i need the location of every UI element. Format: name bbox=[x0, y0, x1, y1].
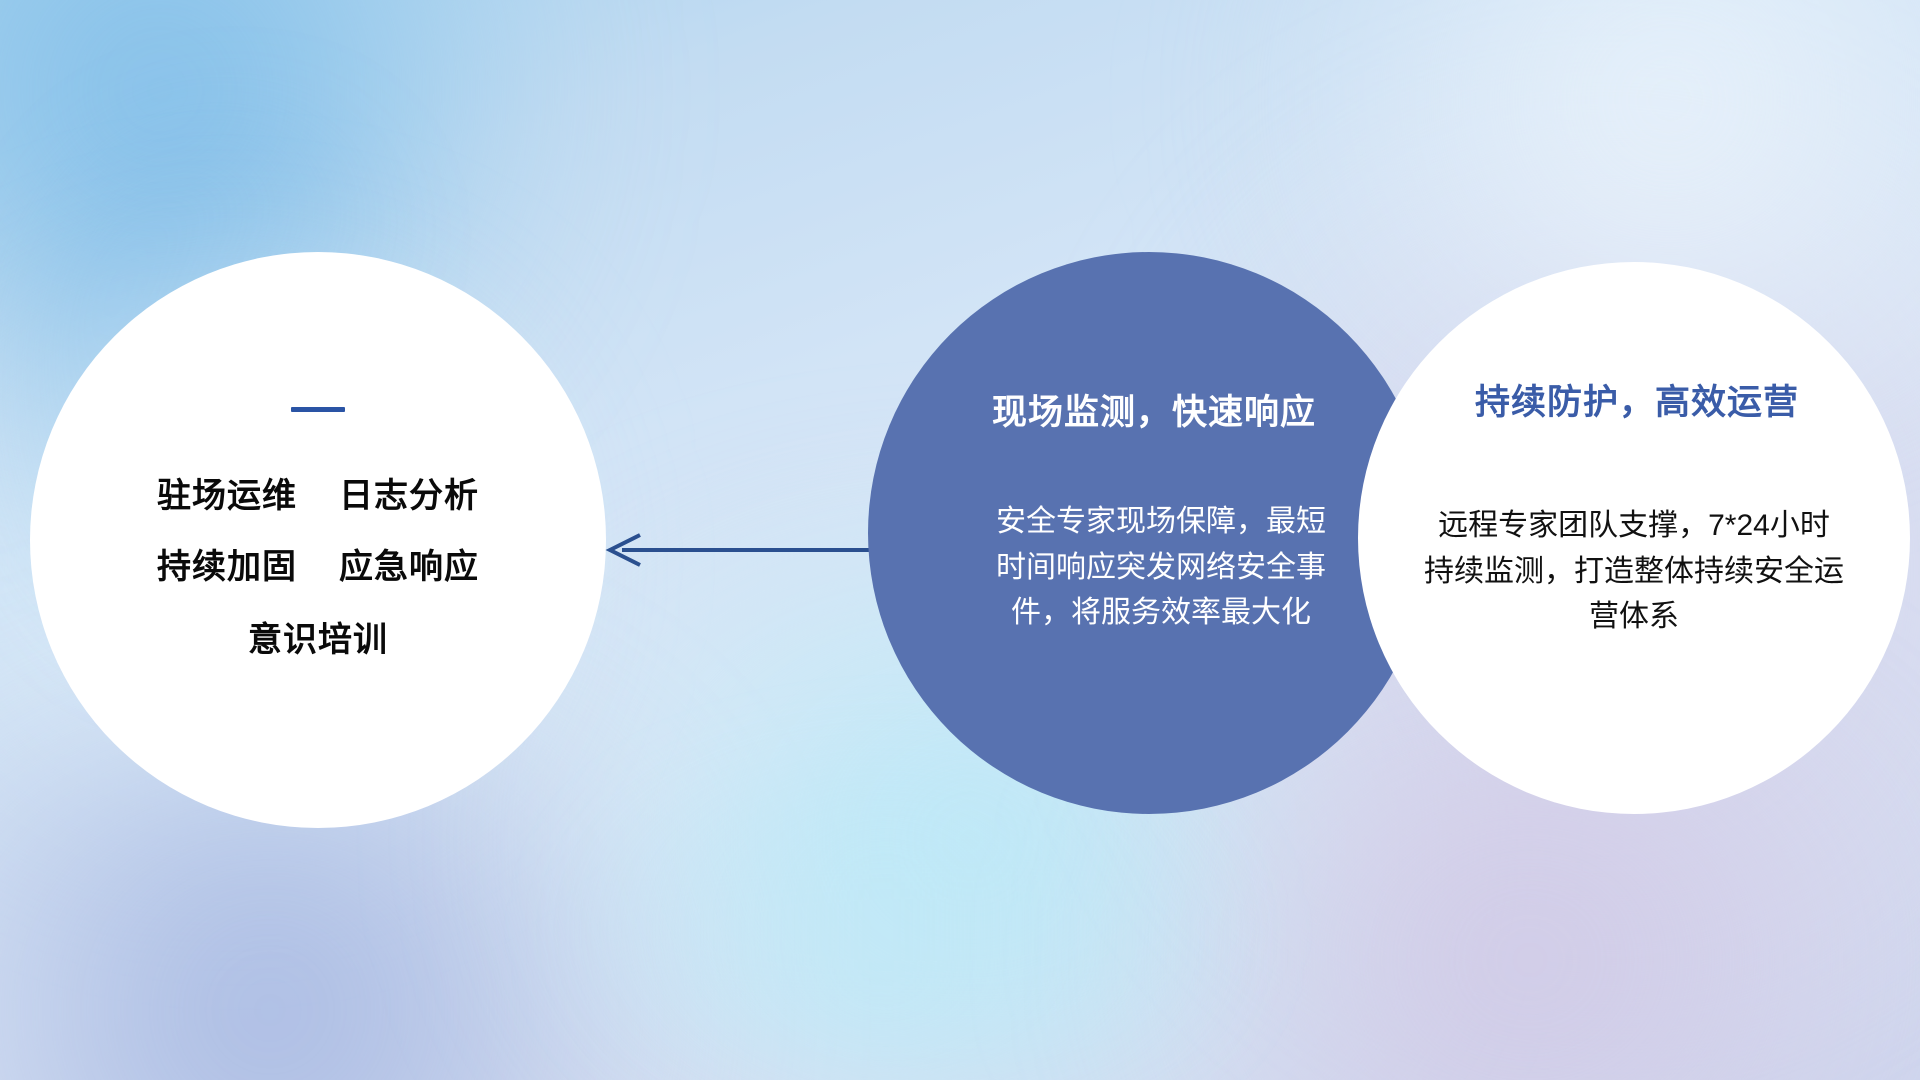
right-service-circle: 持续防护，高效运营 远程专家团队支撑，7*24小时持续监测，打造整体持续安全运营… bbox=[1358, 262, 1910, 814]
middle-circle-title: 现场监测，快速响应 bbox=[992, 384, 1316, 435]
right-circle-body: 远程专家团队支撑，7*24小时持续监测，打造整体持续安全运营体系 bbox=[1424, 503, 1844, 640]
tag-row: 意识培训 bbox=[103, 612, 533, 661]
tag-row: 持续加固 应急响应 bbox=[103, 539, 533, 588]
service-tag: 驻场运维 bbox=[157, 468, 297, 517]
slide-canvas: 驻场运维 日志分析 持续加固 应急响应 意识培训 现场监测，快速响应 安全专家现… bbox=[0, 0, 1920, 1080]
service-tag: 应急响应 bbox=[339, 539, 479, 588]
service-tag: 意识培训 bbox=[248, 612, 388, 661]
background-streak-bottom bbox=[560, 780, 1260, 1080]
left-arrow-icon bbox=[600, 520, 890, 580]
right-circle-title: 持续防护，高效运营 bbox=[1475, 374, 1799, 425]
middle-service-circle: 现场监测，快速响应 安全专家现场保障，最短时间响应突发网络安全事件，将服务效率最… bbox=[868, 252, 1430, 814]
service-tag: 持续加固 bbox=[157, 539, 297, 588]
service-tag: 日志分析 bbox=[339, 468, 479, 517]
tag-row: 驻场运维 日志分析 bbox=[103, 468, 533, 517]
left-service-circle: 驻场运维 日志分析 持续加固 应急响应 意识培训 bbox=[30, 252, 606, 828]
left-circle-content: 驻场运维 日志分析 持续加固 应急响应 意识培训 bbox=[103, 407, 533, 661]
divider-dash bbox=[291, 407, 345, 412]
middle-circle-body: 安全专家现场保障，最短时间响应突发网络安全事件，将服务效率最大化 bbox=[996, 499, 1326, 636]
